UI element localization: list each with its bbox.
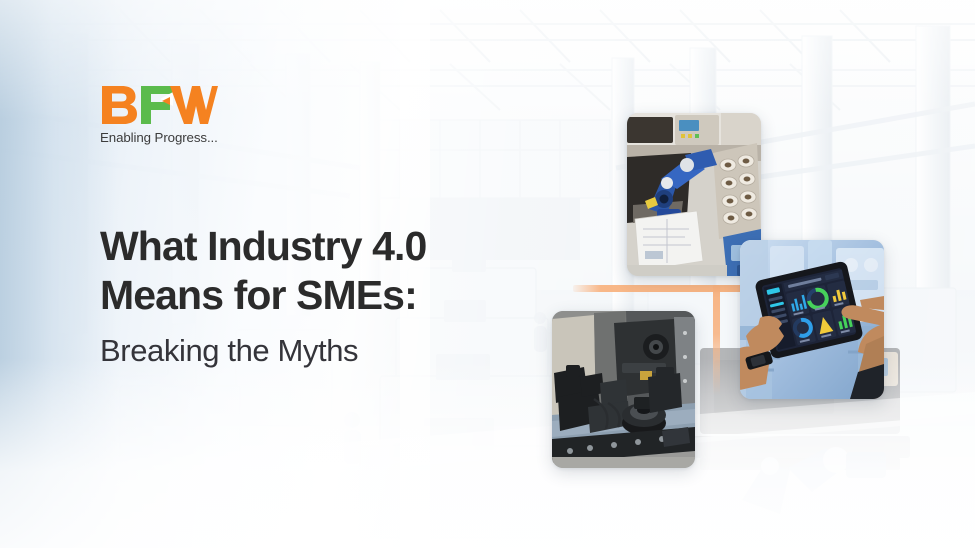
headline-line-2-text: Means for SMEs (100, 272, 404, 318)
accent-line-vertical (713, 285, 720, 395)
logo-tagline: Enabling Progress... (100, 130, 222, 145)
cnc-machine-interior-photo (552, 311, 695, 468)
accent-line-horizontal (573, 285, 747, 292)
bfw-logo[interactable]: Enabling Progress... (100, 84, 222, 145)
headline-block: What Industry 4.0 Means for SMEs: Breaki… (100, 224, 570, 369)
bfw-logo-mark (100, 84, 218, 126)
headline-subhead: Breaking the Myths (100, 333, 570, 369)
banner-root: Enabling Progress... What Industry 4.0 M… (0, 0, 975, 548)
headline-line-2: Means for SMEs: (100, 273, 570, 318)
factory-tablet-dashboard-photo (740, 240, 884, 399)
headline-line-1: What Industry 4.0 (100, 224, 570, 269)
headline-colon: : (404, 272, 417, 318)
